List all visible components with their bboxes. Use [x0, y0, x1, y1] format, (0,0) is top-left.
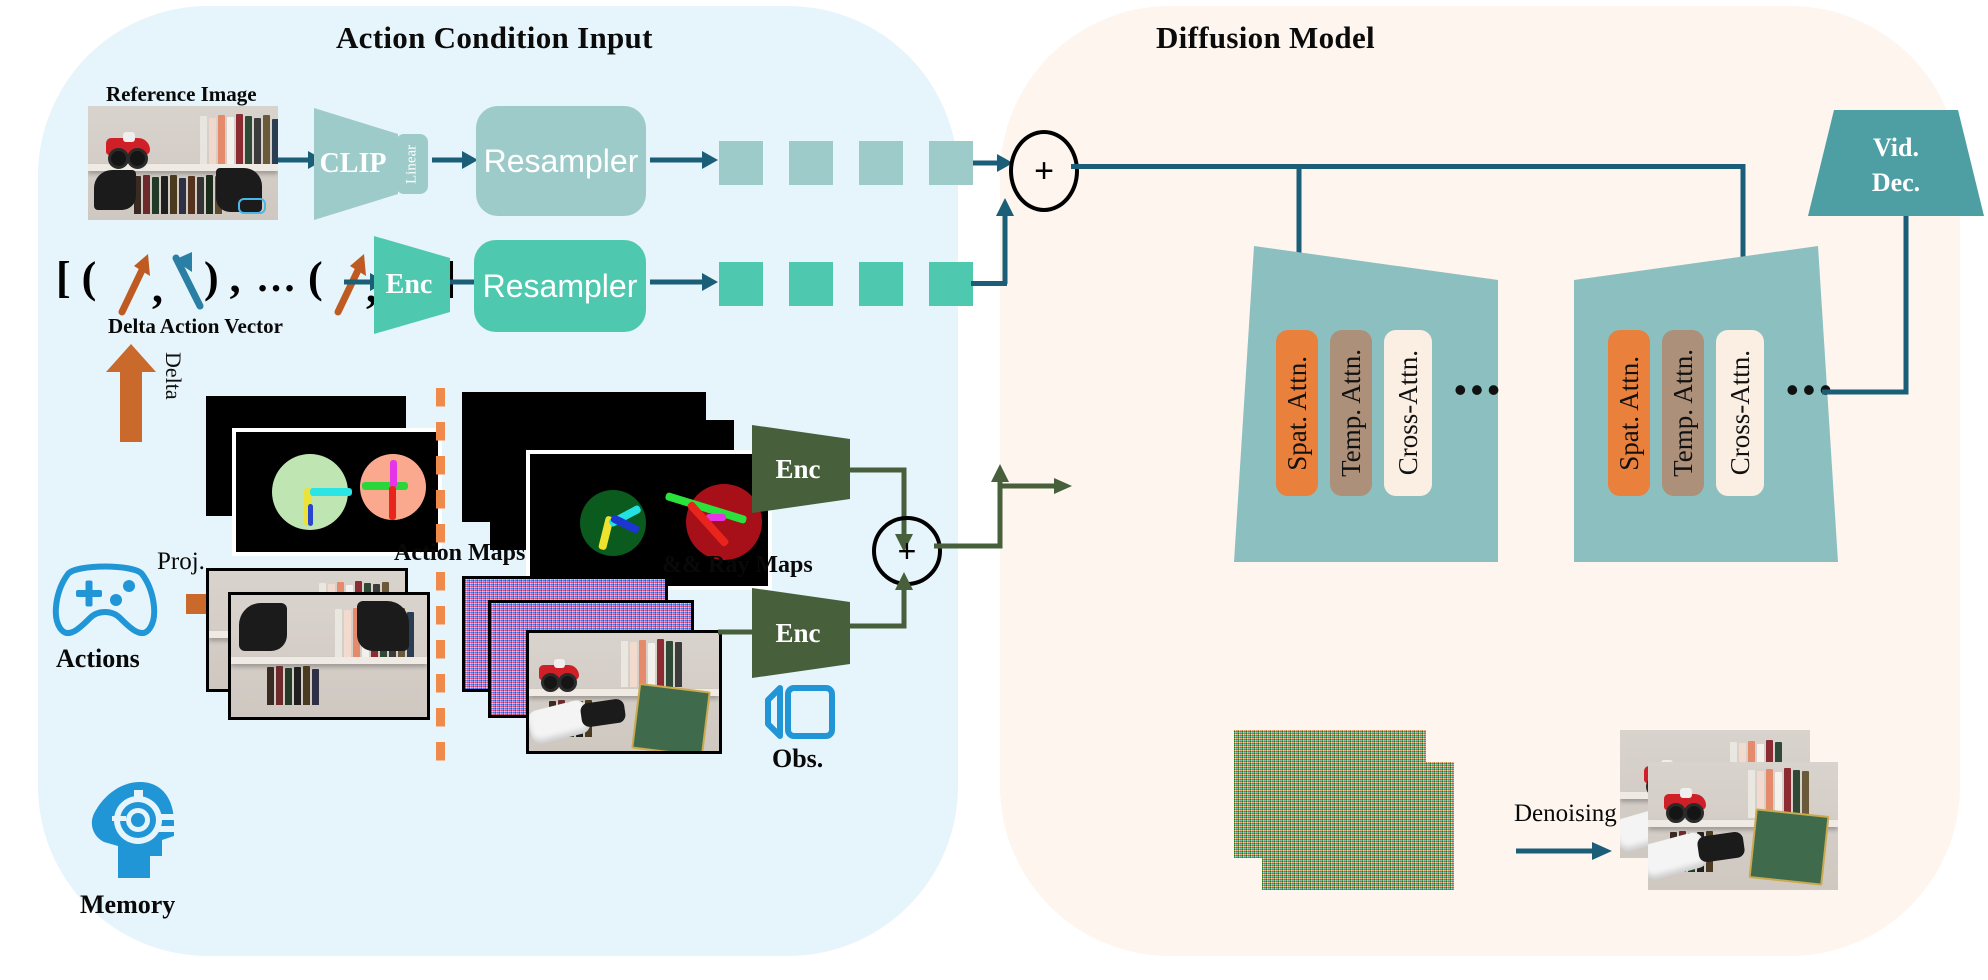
arrow-linear-to-resampler [432, 146, 478, 174]
wire-obs-enc-to-sum [848, 566, 918, 638]
arrow-resampler2-to-action-tokens [650, 268, 718, 296]
wire-action-tokens-horizontal [971, 281, 1007, 286]
denoise-input-front [1262, 762, 1454, 890]
image-token [789, 141, 833, 185]
memory-head-icon [88, 780, 174, 880]
action-map-front [232, 428, 442, 556]
spat-attn-label-1: Spat. Attn. [1282, 356, 1313, 471]
resampler-image-block: Resampler [476, 106, 646, 216]
unet-ellipsis-1: ••• [1454, 372, 1504, 408]
video-decoder-line2: Dec. [1872, 165, 1920, 200]
temp-attn-block-1[interactable]: Temp. Attn. [1330, 330, 1372, 496]
arrow-action-tokens-to-sum [971, 190, 1011, 286]
memory-frame-front [228, 592, 430, 720]
ray-blob-right [686, 484, 762, 560]
reference-image-label: Reference Image [106, 82, 257, 107]
action-token [929, 262, 973, 306]
delta-action-vector-expression: [ ( , ) , … ( , ) ] [56, 248, 376, 322]
delta-action-vector-caption: Delta Action Vector [108, 314, 283, 339]
clip-label: CLIP [314, 108, 392, 220]
delta-arrow-label: Delta [160, 352, 186, 400]
reference-image-thumbnail [88, 106, 278, 220]
arrow-latent-into-unet [934, 472, 1074, 504]
action-stick [389, 486, 396, 520]
image-token [859, 141, 903, 185]
observation-frame [526, 630, 722, 754]
spat-attn-label-2: Spat. Attn. [1614, 356, 1645, 471]
separator-dashed-upper [436, 388, 445, 558]
denoising-label: Denoising [1514, 800, 1617, 828]
temp-attn-label-2: Temp. Attn. [1668, 349, 1699, 477]
diagram-canvas: Action Condition Input Diffusion Model R… [0, 0, 1988, 980]
temp-attn-block-2[interactable]: Temp. Attn. [1662, 330, 1704, 496]
ray-enc-label: Enc [752, 425, 844, 513]
obs-enc-label: Enc [752, 588, 844, 678]
gamepad-icon [50, 566, 160, 638]
action-enc-label: Enc [374, 236, 444, 334]
action-token [859, 262, 903, 306]
separator-dashed-lower [436, 572, 445, 762]
action-stick [390, 460, 397, 488]
wire-cond-bus [1071, 164, 1743, 169]
video-camera-icon [766, 686, 834, 742]
action-stick [362, 482, 408, 490]
spat-attn-block-1[interactable]: Spat. Attn. [1276, 330, 1318, 496]
cross-attn-label-2: Cross-Attn. [1725, 350, 1756, 475]
denoise-output-front [1648, 762, 1838, 890]
temp-attn-label-1: Temp. Attn. [1336, 349, 1367, 477]
action-token [719, 262, 763, 306]
cross-attn-block-2[interactable]: Cross-Attn. [1716, 330, 1764, 496]
cross-attn-label-1: Cross-Attn. [1393, 350, 1424, 475]
action-stick [310, 488, 352, 496]
image-token [719, 141, 763, 185]
video-decoder-label: Vid. Dec. [1808, 118, 1984, 212]
image-token [929, 141, 973, 185]
ray-maps-label: && Ray Maps [662, 552, 813, 579]
cross-attn-block-1[interactable]: Cross-Attn. [1384, 330, 1432, 496]
resampler-action-block: Resampler [474, 240, 646, 332]
proj-label: Proj. [157, 548, 205, 576]
spat-attn-block-2[interactable]: Spat. Attn. [1608, 330, 1650, 496]
action-stick [308, 504, 313, 526]
action-token [789, 262, 833, 306]
obs-label: Obs. [772, 744, 823, 774]
condition-sum-node: + [1009, 130, 1079, 212]
action-condition-title: Action Condition Input [336, 20, 653, 56]
diffusion-model-title: Diffusion Model [1156, 20, 1375, 56]
memory-label: Memory [80, 890, 175, 920]
delta-arrow [102, 344, 160, 442]
linear-label: Linear [396, 134, 428, 194]
actions-label: Actions [56, 644, 140, 674]
video-decoder-line1: Vid. [1873, 130, 1919, 165]
arrow-resampler-to-image-tokens [650, 146, 718, 174]
arrow-denoising [1516, 838, 1612, 864]
